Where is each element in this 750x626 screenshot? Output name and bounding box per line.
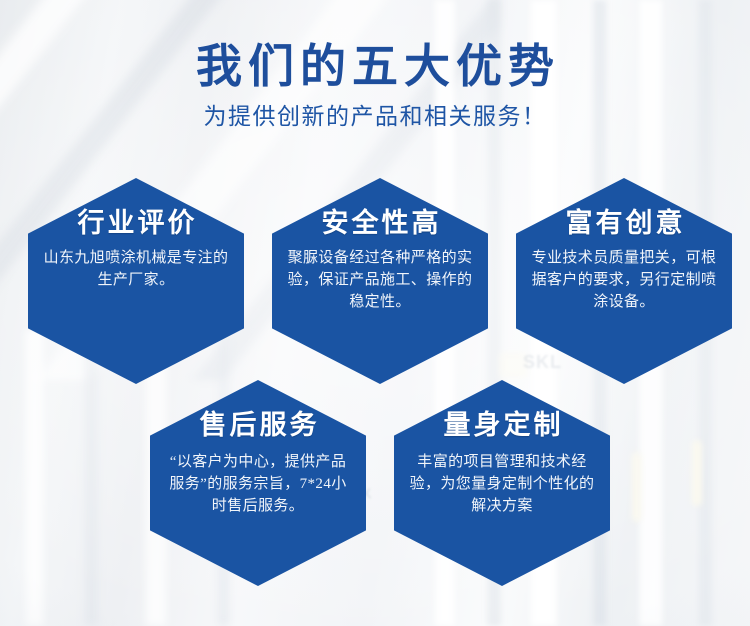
banner-heading: 我们的五大优势 为提供创新的产品和相关服务！ — [0, 38, 750, 132]
advantage-card-title: 安全性高 — [280, 206, 480, 240]
advantage-card-desc: 丰富的项目管理和技术经验，为您量身定制个性化的解决方案 — [402, 451, 602, 517]
promo-banner: SKL JX 我们的五大优势 为提供创新的产品和相关服务！ 行业评价 山东九旭喷… — [0, 0, 750, 626]
advantage-card-title: 量身定制 — [402, 408, 602, 442]
advantage-card-desc: 专业技术员质量把关，可根据客户的要求，另行定制喷涂设备。 — [524, 247, 724, 313]
advantage-card-desc: 山东九旭喷涂机械是专注的生产厂家。 — [36, 247, 236, 291]
advantage-card-desc: “以客户为中心，提供产品服务”的服务宗旨，7*24小时售后服务。 — [158, 451, 358, 517]
advantage-card-title: 富有创意 — [524, 206, 724, 240]
advantage-card-1[interactable]: 行业评价 山东九旭喷涂机械是专注的生产厂家。 — [28, 178, 244, 384]
advantage-card-4[interactable]: 售后服务 “以客户为中心，提供产品服务”的服务宗旨，7*24小时售后服务。 — [150, 380, 366, 586]
advantage-card-3[interactable]: 富有创意 专业技术员质量把关，可根据客户的要求，另行定制喷涂设备。 — [516, 178, 732, 384]
advantage-card-2[interactable]: 安全性高 聚脲设备经过各种严格的实验，保证产品施工、操作的稳定性。 — [272, 178, 488, 384]
page-title: 我们的五大优势 — [0, 38, 750, 96]
advantage-card-title: 售后服务 — [158, 408, 358, 442]
advantage-card-desc: 聚脲设备经过各种严格的实验，保证产品施工、操作的稳定性。 — [280, 247, 480, 313]
page-subtitle: 为提供创新的产品和相关服务！ — [0, 102, 750, 132]
advantage-card-title: 行业评价 — [36, 206, 236, 240]
advantage-card-5[interactable]: 量身定制 丰富的项目管理和技术经验，为您量身定制个性化的解决方案 — [394, 380, 610, 586]
